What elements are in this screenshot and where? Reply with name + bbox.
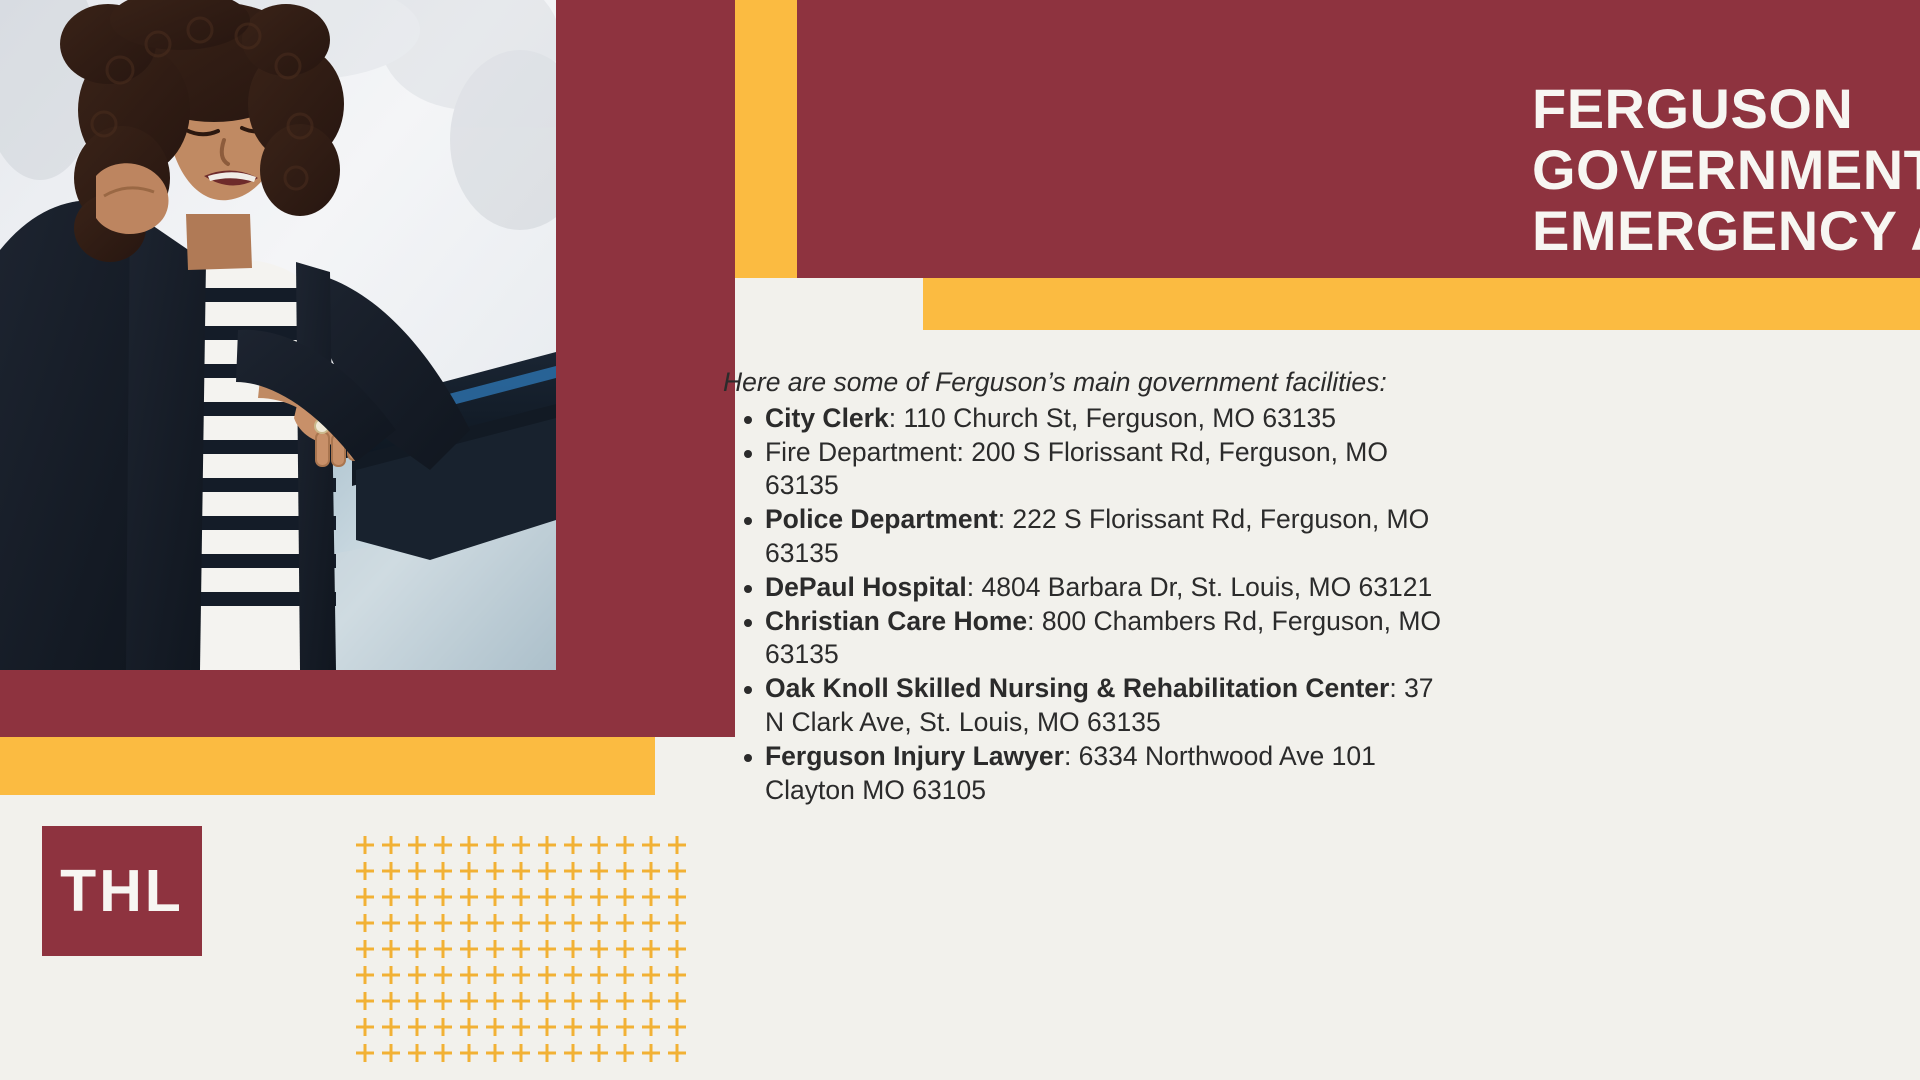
facility-separator: : — [1064, 741, 1079, 771]
list-item: Oak Knoll Skilled Nursing & Rehabilitati… — [723, 672, 1443, 740]
poster-canvas: THL FERGUSON GOVERNMENT AND EMERGENCY AG… — [0, 0, 1920, 1080]
main-content: Here are some of Ferguson’s main governm… — [723, 366, 1443, 807]
left-graphic-composition — [0, 0, 735, 800]
list-item: City Clerk: 110 Church St, Ferguson, MO … — [723, 402, 1443, 436]
facility-name: Police Department — [765, 504, 998, 534]
logo-text: THL — [60, 862, 184, 921]
facility-separator: : — [1027, 606, 1042, 636]
header-banner: FERGUSON GOVERNMENT AND EMERGENCY AGENCI… — [797, 0, 1920, 278]
facility-name: DePaul Hospital — [765, 572, 967, 602]
yellow-bottom-band — [0, 737, 655, 795]
list-item: Police Department: 222 S Florissant Rd, … — [723, 503, 1443, 571]
facility-name: Christian Care Home — [765, 606, 1027, 636]
facility-list: City Clerk: 110 Church St, Ferguson, MO … — [723, 402, 1443, 807]
header-yellow-accent-bar — [923, 278, 1920, 330]
list-item: Christian Care Home: 800 Chambers Rd, Fe… — [723, 605, 1443, 673]
facility-address: 4804 Barbara Dr, St. Louis, MO 63121 — [981, 572, 1432, 602]
yellow-vertical-strip — [735, 0, 797, 278]
facility-name: Fire Department — [765, 437, 956, 467]
facility-separator: : — [956, 437, 971, 467]
hero-photo — [0, 0, 556, 670]
facility-separator: : — [889, 403, 904, 433]
facility-name: Oak Knoll Skilled Nursing & Rehabilitati… — [765, 673, 1389, 703]
list-item: Fire Department: 200 S Florissant Rd, Fe… — [723, 436, 1443, 504]
plus-pattern-decoration — [352, 832, 670, 1062]
list-item: DePaul Hospital: 4804 Barbara Dr, St. Lo… — [723, 571, 1443, 605]
intro-paragraph: Here are some of Ferguson’s main governm… — [723, 366, 1443, 400]
facility-separator: : — [998, 504, 1013, 534]
list-item: Ferguson Injury Lawyer: 6334 Northwood A… — [723, 740, 1443, 808]
facility-name: Ferguson Injury Lawyer — [765, 741, 1064, 771]
page-title: FERGUSON GOVERNMENT AND EMERGENCY AGENCI… — [1532, 78, 1920, 261]
facility-separator: : — [967, 572, 982, 602]
facility-separator: : — [1389, 673, 1404, 703]
facility-address: 110 Church St, Ferguson, MO 63135 — [903, 403, 1336, 433]
thl-logo[interactable]: THL — [42, 826, 202, 956]
facility-name: City Clerk — [765, 403, 889, 433]
